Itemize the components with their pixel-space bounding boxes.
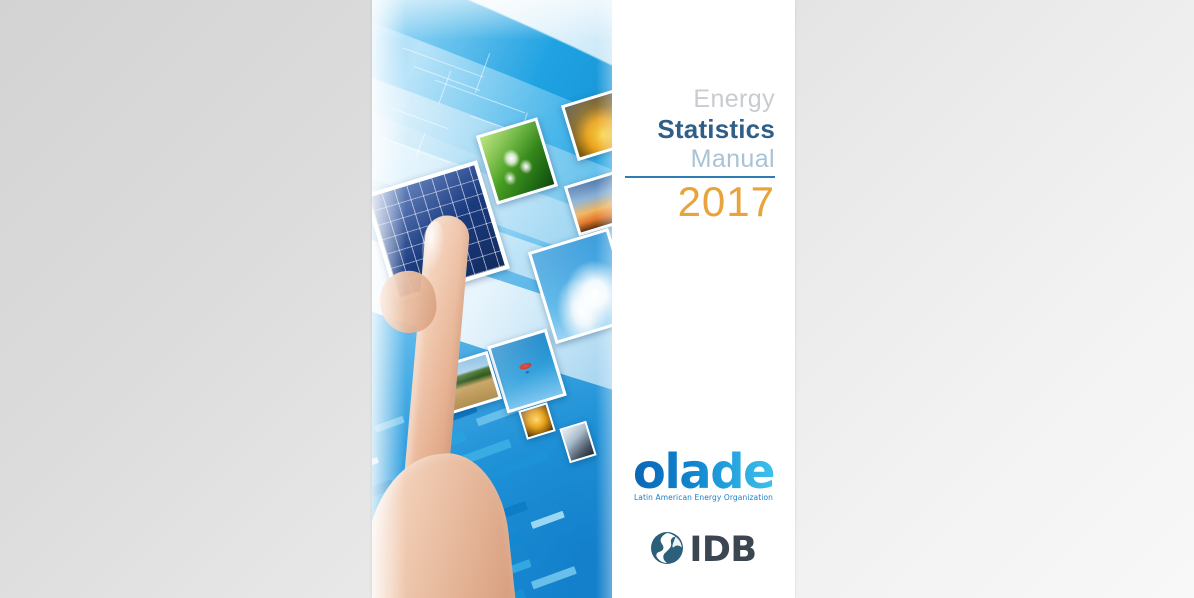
title-line-energy: Energy <box>625 84 775 114</box>
idb-globe-icon <box>650 531 684 570</box>
pointing-hand <box>372 215 552 598</box>
title-line-manual: Manual <box>625 144 775 174</box>
idb-logo: IDB <box>612 531 795 570</box>
title-line-statistics: Statistics <box>625 114 775 144</box>
cover-artwork <box>372 0 612 598</box>
olade-tagline: Latin American Energy Organization <box>633 493 774 503</box>
title-year: 2017 <box>625 179 775 225</box>
publisher-logos: olade Latin American Energy Organization… <box>612 448 795 570</box>
palm <box>372 448 524 598</box>
olade-wordmark: olade <box>633 448 774 496</box>
cover-title-block: Energy Statistics Manual 2017 <box>625 84 775 225</box>
olade-logo: olade Latin American Energy Organization <box>633 448 774 503</box>
cover-content-column: Energy Statistics Manual 2017 olade Lati… <box>612 0 795 598</box>
book-cover-page: Energy Statistics Manual 2017 olade Lati… <box>372 0 795 598</box>
idb-wordmark: IDB <box>689 533 756 568</box>
